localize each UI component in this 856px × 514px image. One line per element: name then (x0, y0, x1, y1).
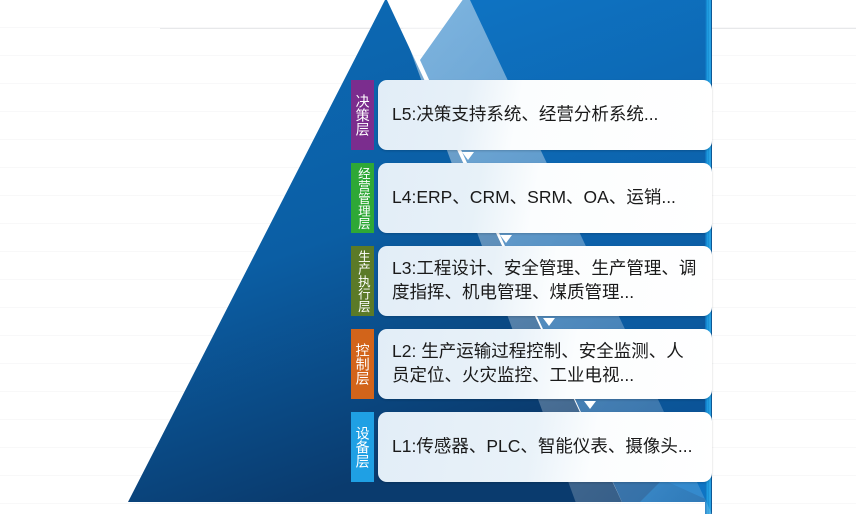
layer-tab-L3[interactable]: 生产执行层 (351, 246, 374, 316)
layer-row-L3[interactable]: 生产执行层 L3:工程设计、安全管理、生产管理、调度指挥、机电管理、煤质管理..… (351, 246, 712, 316)
flow-arrow-L3-L2 (543, 318, 555, 326)
layer-tab-L5[interactable]: 决策层 (351, 80, 374, 150)
flow-arrow-L5-L4 (462, 152, 474, 160)
layer-tab-label-L2: 控制层 (355, 343, 369, 385)
layer-tab-label-L4: 经营管理层 (356, 167, 369, 230)
layer-row-L5[interactable]: 决策层 L5:决策支持系统、经营分析系统... (351, 80, 712, 150)
layer-card-L3[interactable]: L3:工程设计、安全管理、生产管理、调度指挥、机电管理、煤质管理... (378, 246, 712, 316)
layer-text-L5: L5:决策支持系统、经营分析系统... (392, 103, 658, 127)
layer-text-L3: L3:工程设计、安全管理、生产管理、调度指挥、机电管理、煤质管理... (392, 257, 698, 304)
layer-tab-label-L3: 生产执行层 (356, 250, 369, 313)
layer-card-L5[interactable]: L5:决策支持系统、经营分析系统... (378, 80, 712, 150)
layer-tab-L1[interactable]: 设备层 (351, 412, 374, 482)
layer-text-L1: L1:传感器、PLC、智能仪表、摄像头... (392, 435, 692, 459)
layer-row-L4[interactable]: 经营管理层 L4:ERP、CRM、SRM、OA、运销... (351, 163, 712, 233)
layer-card-L2[interactable]: L2: 生产运输过程控制、安全监测、人员定位、火灾监控、工业电视... (378, 329, 712, 399)
layer-tab-label-L1: 设备层 (355, 426, 369, 468)
layer-tab-label-L5: 决策层 (355, 94, 369, 136)
flow-arrow-L2-L1 (584, 401, 596, 409)
layer-text-L2: L2: 生产运输过程控制、安全监测、人员定位、火灾监控、工业电视... (392, 340, 698, 387)
layer-tab-L4[interactable]: 经营管理层 (351, 163, 374, 233)
layer-row-L2[interactable]: 控制层 L2: 生产运输过程控制、安全监测、人员定位、火灾监控、工业电视... (351, 329, 712, 399)
diagram-canvas: 决策层 L5:决策支持系统、经营分析系统... 经营管理层 L4:ERP、CRM… (0, 0, 856, 514)
layer-text-L4: L4:ERP、CRM、SRM、OA、运销... (392, 186, 676, 210)
layer-card-L1[interactable]: L1:传感器、PLC、智能仪表、摄像头... (378, 412, 712, 482)
layer-tab-L2[interactable]: 控制层 (351, 329, 374, 399)
layer-card-L4[interactable]: L4:ERP、CRM、SRM、OA、运销... (378, 163, 712, 233)
layer-row-L1[interactable]: 设备层 L1:传感器、PLC、智能仪表、摄像头... (351, 412, 712, 482)
flow-arrow-L4-L3 (500, 235, 512, 243)
